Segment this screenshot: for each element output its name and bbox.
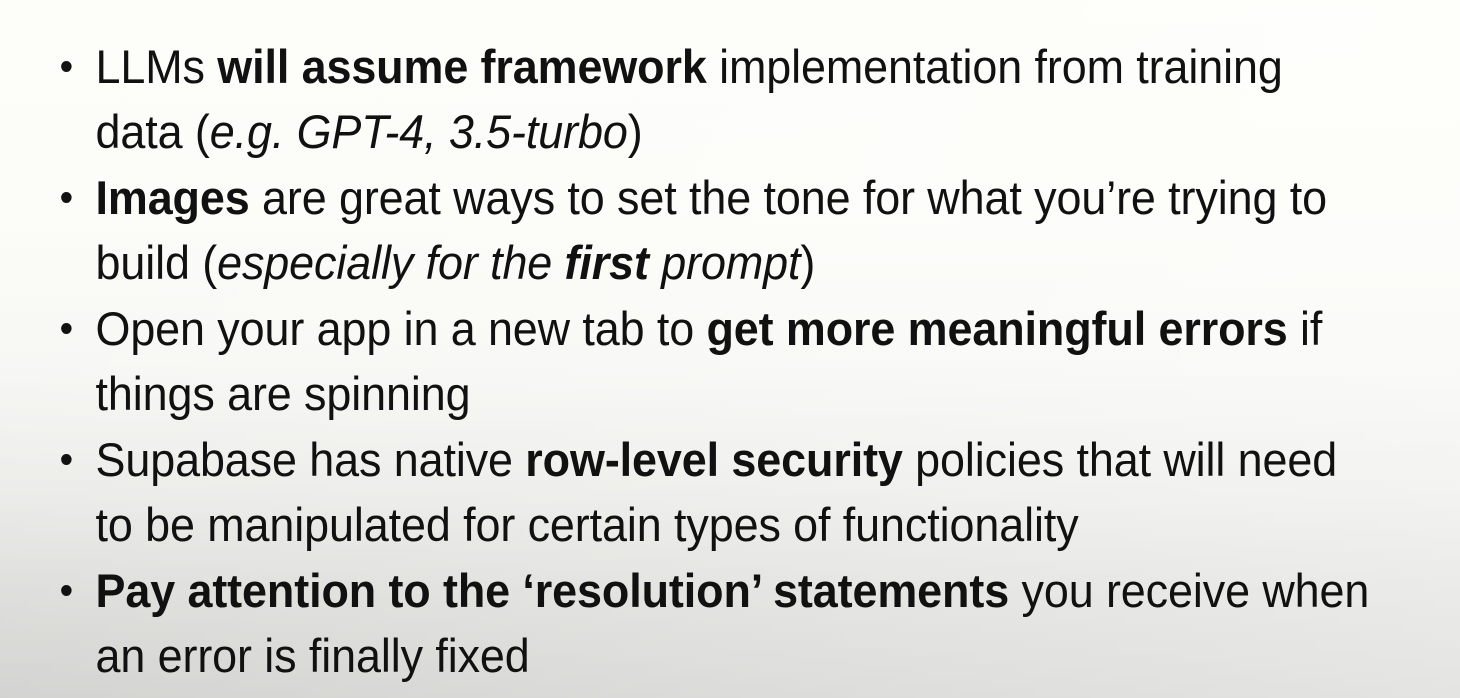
text-run-normal: LLMs — [96, 40, 218, 93]
bullet-text: Images are great ways to set the tone fo… — [96, 171, 1327, 289]
bullet-list: LLMs will assume framework implementatio… — [0, 0, 1460, 688]
text-run-bold: row-level security — [525, 433, 902, 486]
text-run-bold: will assume framework — [217, 40, 706, 93]
text-run-bold: get more meaningful errors — [706, 302, 1287, 355]
bullet-point-icon — [61, 323, 72, 334]
text-run-normal: Open your app in a new tab to — [96, 302, 707, 355]
bullet-text: LLMs will assume framework implementatio… — [96, 40, 1283, 158]
bullet-point-icon — [61, 585, 72, 596]
slide-canvas: LLMs will assume framework implementatio… — [0, 0, 1460, 698]
text-run-italic: especially for the — [217, 236, 564, 289]
bullet-item-images-set-tone: Images are great ways to set the tone fo… — [0, 165, 1394, 295]
bullet-text: Supabase has native row-level security p… — [96, 433, 1338, 551]
text-run-normal: ) — [628, 105, 643, 158]
text-run-bold: Images — [96, 171, 250, 224]
bullet-item-resolution-statements: Pay attention to the ‘resolution’ statem… — [0, 558, 1394, 688]
text-run-bold-italic: first — [565, 236, 649, 289]
text-run-normal: Supabase has native — [96, 433, 526, 486]
bullet-text: Open your app in a new tab to get more m… — [96, 302, 1323, 420]
bullet-point-icon — [61, 192, 72, 203]
text-run-normal: ) — [800, 236, 815, 289]
bullet-text: Pay attention to the ‘resolution’ statem… — [96, 564, 1370, 682]
bullet-point-icon — [61, 454, 72, 465]
text-run-italic: e.g. GPT-4, 3.5-turbo — [210, 105, 628, 158]
text-run-bold: Pay attention to the ‘resolution’ statem… — [96, 564, 1010, 617]
bullet-item-open-app-new-tab: Open your app in a new tab to get more m… — [0, 296, 1394, 426]
bullet-item-llms-assume-framework: LLMs will assume framework implementatio… — [0, 34, 1394, 164]
bullet-point-icon — [61, 61, 72, 72]
text-run-italic: prompt — [649, 236, 801, 289]
bullet-item-supabase-row-level-security: Supabase has native row-level security p… — [0, 427, 1394, 557]
